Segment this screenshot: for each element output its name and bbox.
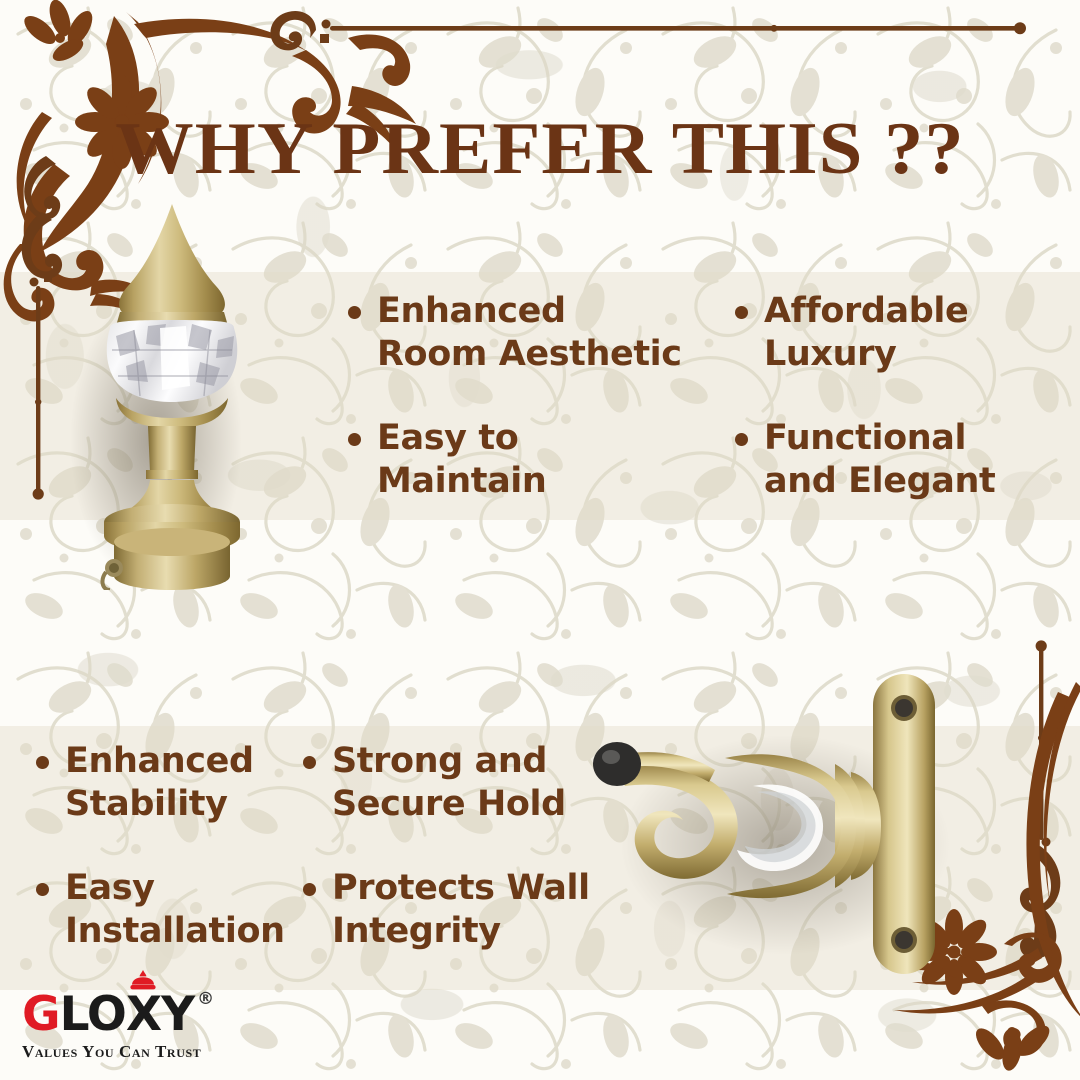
bullet-dot-icon [348,306,361,319]
bullet-dot-icon [735,306,748,319]
logo-letter-x-glyph: X [126,987,161,1042]
bullet-item: Easy to Maintain [348,417,688,502]
bullet-column-top-left: Enhanced Room Aesthetic Easy to Maintain [348,290,688,503]
bullet-dot-icon [735,433,748,446]
bullet-dot-icon [36,756,49,769]
bullet-label: Easy to Maintain [377,417,546,502]
finial-ornament-icon [129,970,157,990]
logo-wordmark: G LO X Y ® [22,991,272,1038]
bullet-label: Functional and Elegant [764,417,995,502]
bullet-label: Easy Installation [65,867,285,952]
brand-logo: G LO X Y ® Values You Can Trust [22,991,272,1062]
bullet-column-bottom-left: Enhanced Stability Easy Installation [36,740,306,953]
infographic-canvas: WHY PREFER THIS ?? [0,0,1080,1080]
logo-letter-x: X [126,991,161,1038]
logo-tagline: Values You Can Trust [22,1042,272,1062]
bullet-label: Enhanced Stability [65,740,254,825]
logo-letters-lo: LO [60,991,126,1038]
bullet-item: Easy Installation [36,867,306,952]
product-image-finial [60,190,285,590]
bullet-dot-icon [36,883,49,896]
page-title: WHY PREFER THIS ?? [0,112,1080,186]
registered-trademark-symbol: ® [197,991,213,1008]
bullet-item: Protects Wall Integrity [303,867,603,952]
bullet-item: Affordable Luxury [735,290,1045,375]
bullet-label: Protects Wall Integrity [332,867,590,952]
bullet-column-top-right: Affordable Luxury Functional and Elegant [735,290,1045,503]
bullet-column-bottom-right: Strong and Secure Hold Protects Wall Int… [303,740,603,953]
product-image-bracket [585,660,970,1000]
bullet-label: Affordable Luxury [764,290,968,375]
bullet-dot-icon [348,433,361,446]
bullet-dot-icon [303,756,316,769]
bullet-item: Enhanced Room Aesthetic [348,290,688,375]
logo-letter-g: G [22,991,60,1038]
bullet-dot-icon [303,883,316,896]
bullet-label: Enhanced Room Aesthetic [377,290,682,375]
bullet-item: Strong and Secure Hold [303,740,603,825]
logo-letter-y: Y [161,991,194,1038]
bullet-label: Strong and Secure Hold [332,740,566,825]
bullet-item: Enhanced Stability [36,740,306,825]
bullet-item: Functional and Elegant [735,417,1045,502]
